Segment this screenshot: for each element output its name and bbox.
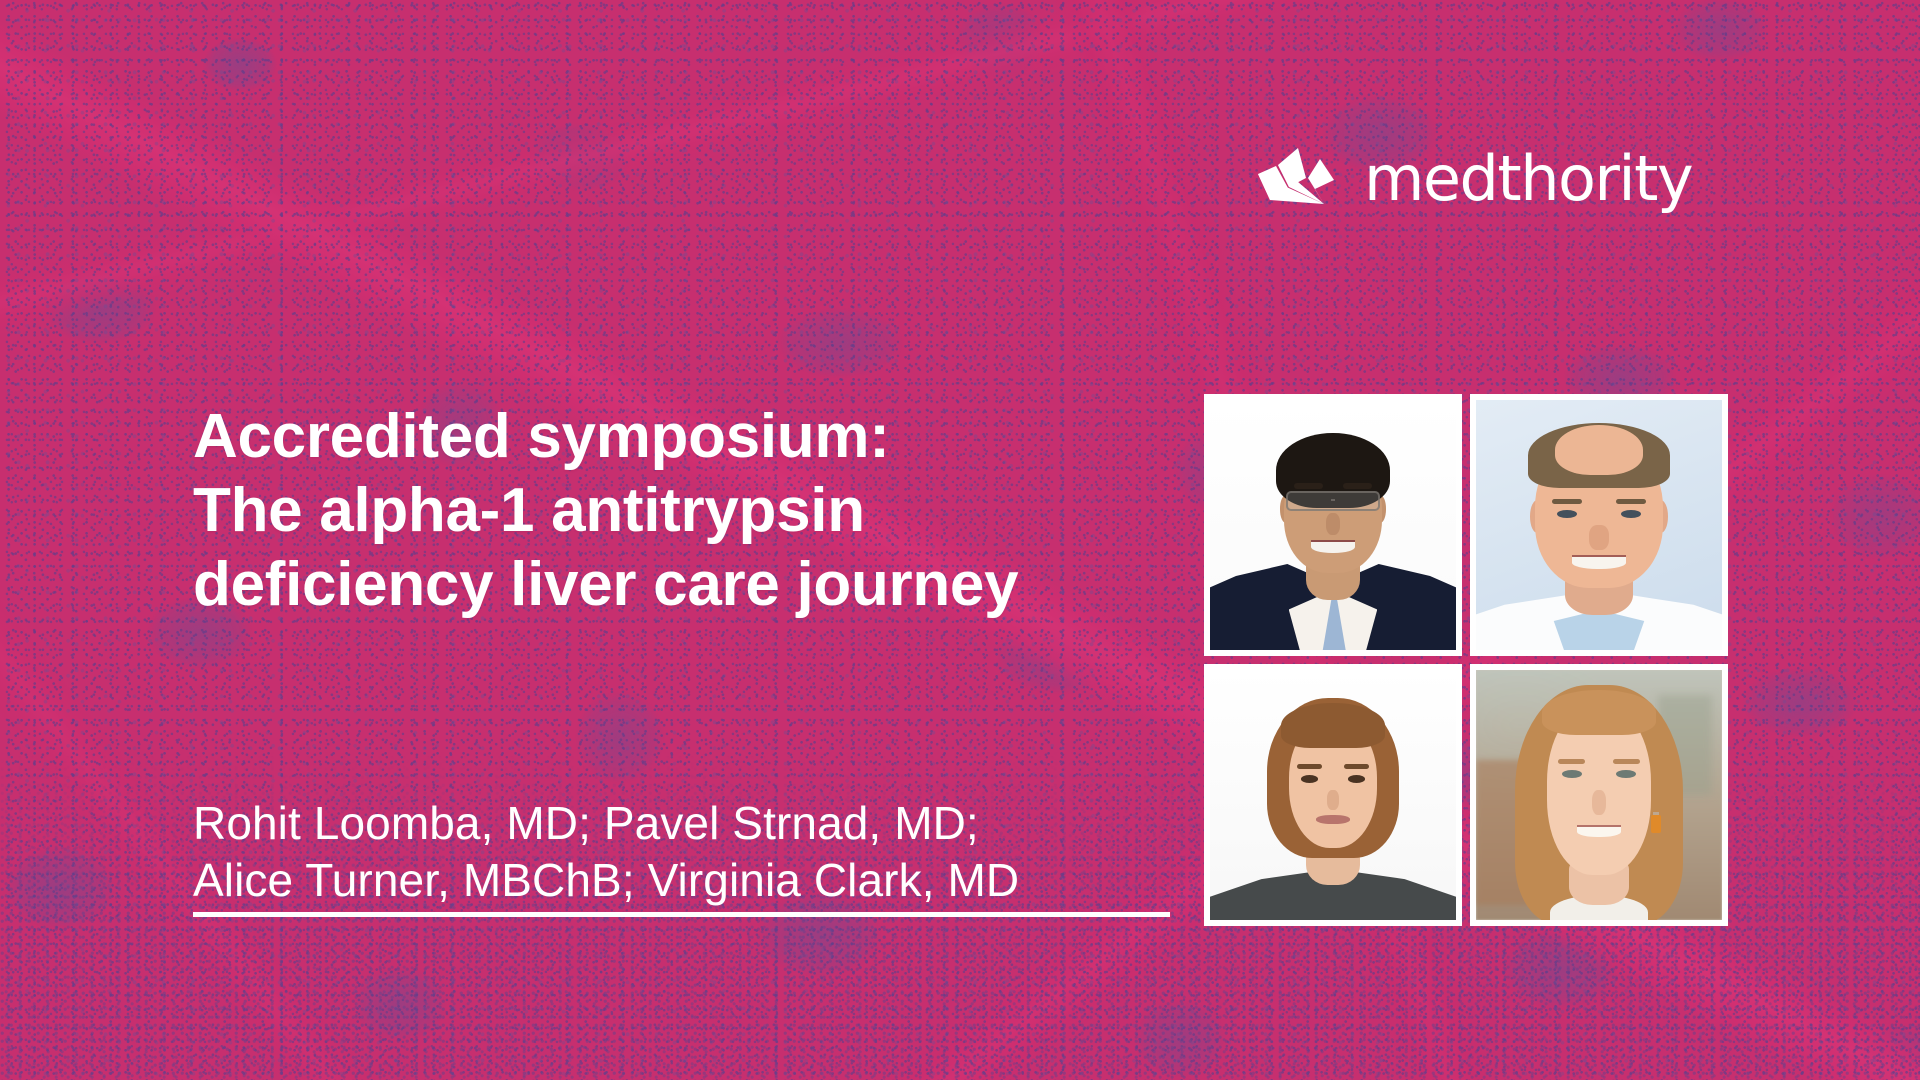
title-line-3: deficiency liver care journey (193, 548, 1193, 622)
speaker-photo-grid (1204, 394, 1728, 926)
title-line-2: The alpha-1 antitrypsin (193, 474, 1193, 548)
speaker-photo-alice-turner (1204, 664, 1462, 926)
medthority-logo: medthority (1258, 148, 1692, 210)
symposium-title-slide: medthority Accredited symposium: The alp… (0, 0, 1920, 1080)
title-line-1: Accredited symposium: (193, 400, 1193, 474)
origami-crown-icon (1258, 148, 1350, 210)
presenter-line-1: Rohit Loomba, MD; Pavel Strnad, MD; (193, 795, 1203, 852)
speaker-photo-rohit-loomba (1204, 394, 1462, 656)
speaker-photo-pavel-strnad (1470, 394, 1728, 656)
presenter-line-2: Alice Turner, MBChB; Virginia Clark, MD (193, 852, 1203, 909)
page-title: Accredited symposium: The alpha-1 antitr… (193, 400, 1193, 621)
presenter-list: Rohit Loomba, MD; Pavel Strnad, MD; Alic… (193, 795, 1203, 909)
speaker-photo-virginia-clark (1470, 664, 1728, 926)
logo-wordmark: medthority (1364, 148, 1692, 210)
title-underline-rule (193, 912, 1170, 917)
